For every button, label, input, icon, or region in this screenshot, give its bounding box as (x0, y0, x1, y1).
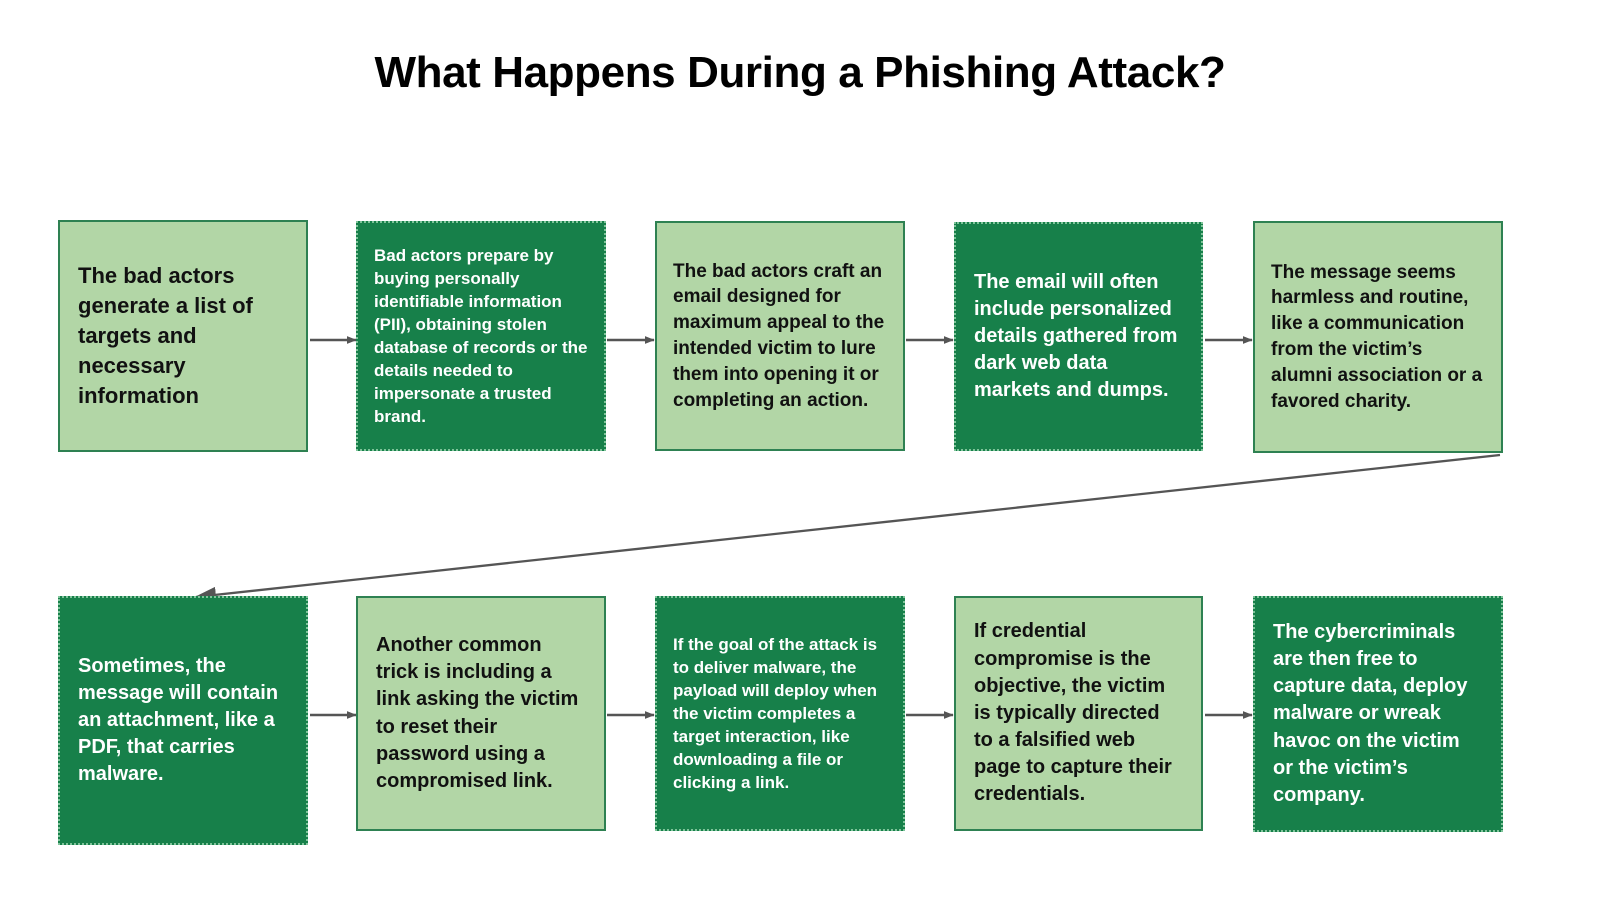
step-box-4-text: The email will often include personalize… (974, 269, 1183, 405)
step-box-8[interactable]: If the goal of the attack is to deliver … (655, 596, 905, 831)
step-box-7[interactable]: Another common trick is including a link… (356, 596, 606, 831)
step-box-4[interactable]: The email will often include personalize… (954, 222, 1203, 451)
step-box-8-text: If the goal of the attack is to deliver … (673, 633, 887, 795)
step-box-9[interactable]: If credential compromise is the objectiv… (954, 596, 1203, 831)
step-box-2-text: Bad actors prepare by buying personally … (374, 244, 588, 429)
step-box-3-text: The bad actors craft an email designed f… (673, 259, 887, 414)
step-box-1-text: The bad actors generate a list of target… (78, 261, 288, 411)
step-box-5[interactable]: The message seems harmless and routine, … (1253, 221, 1503, 453)
step-box-2[interactable]: Bad actors prepare by buying personally … (356, 221, 606, 451)
step-box-1[interactable]: The bad actors generate a list of target… (58, 220, 308, 452)
step-box-6-text: Sometimes, the message will contain an a… (78, 653, 288, 789)
step-box-5-text: The message seems harmless and routine, … (1271, 260, 1485, 415)
arrow-5-to-6 (196, 455, 1500, 597)
step-box-9-text: If credential compromise is the objectiv… (974, 618, 1183, 808)
page-title: What Happens During a Phishing Attack? (0, 48, 1600, 98)
step-box-6[interactable]: Sometimes, the message will contain an a… (58, 596, 308, 845)
step-box-10-text: The cybercriminals are then free to capt… (1273, 619, 1483, 809)
diagram-canvas: What Happens During a Phishing Attack? T… (0, 0, 1600, 916)
step-box-3[interactable]: The bad actors craft an email designed f… (655, 221, 905, 451)
step-box-10[interactable]: The cybercriminals are then free to capt… (1253, 596, 1503, 832)
step-box-7-text: Another common trick is including a link… (376, 632, 586, 795)
